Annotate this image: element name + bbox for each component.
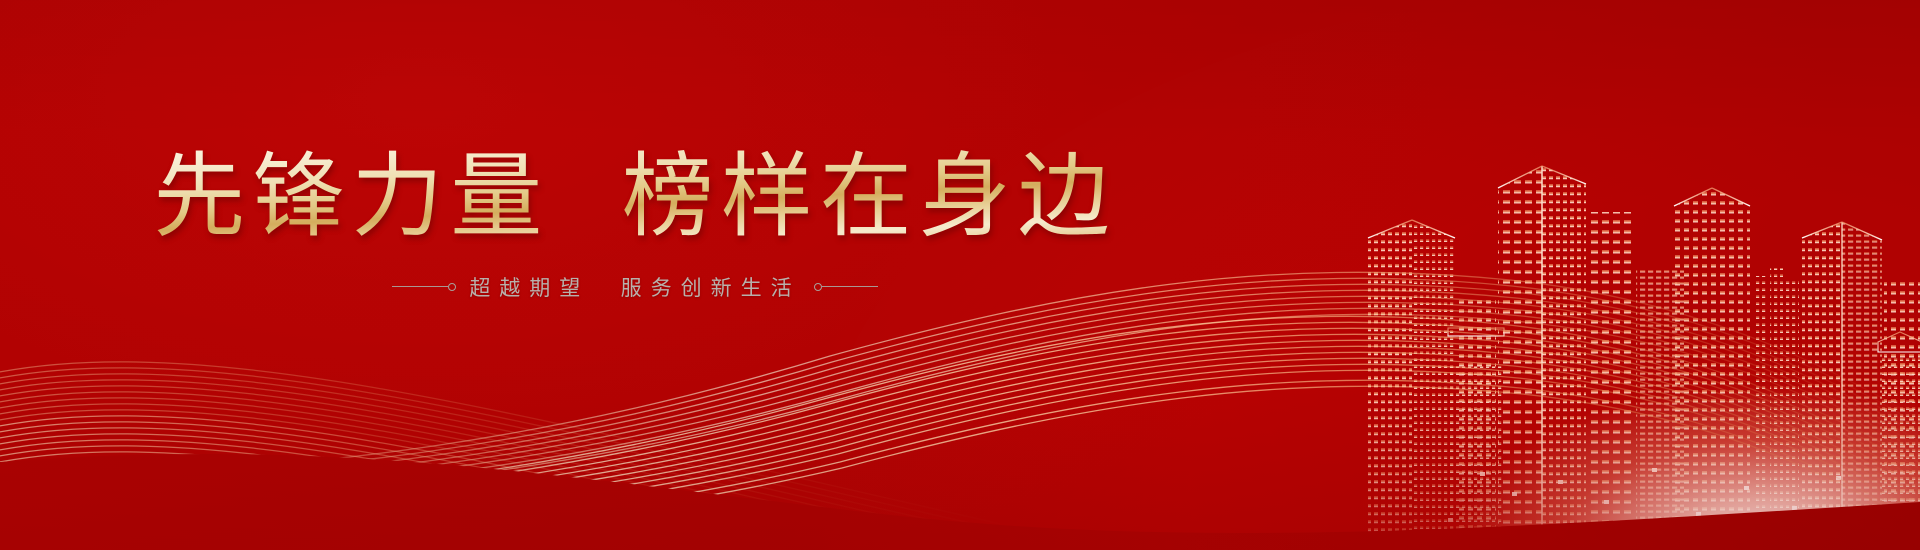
- right-decoration: [814, 283, 878, 291]
- subtitle-row: 超越期望 服务创新生活: [0, 272, 1270, 302]
- promotional-banner: 先锋力量 榜样在身边 超越期望 服务创新生活: [0, 0, 1920, 550]
- deco-line-right: [822, 286, 878, 287]
- deco-circle-right: [814, 283, 822, 291]
- deco-line-left: [392, 286, 448, 287]
- page-title: 先锋力量 榜样在身边: [0, 148, 1270, 246]
- subtitle-text: 超越期望 服务创新生活: [469, 272, 800, 302]
- banner-text-block: 先锋力量 榜样在身边 超越期望 服务创新生活: [0, 148, 1270, 302]
- left-decoration: [392, 283, 456, 291]
- deco-circle-left: [448, 283, 456, 291]
